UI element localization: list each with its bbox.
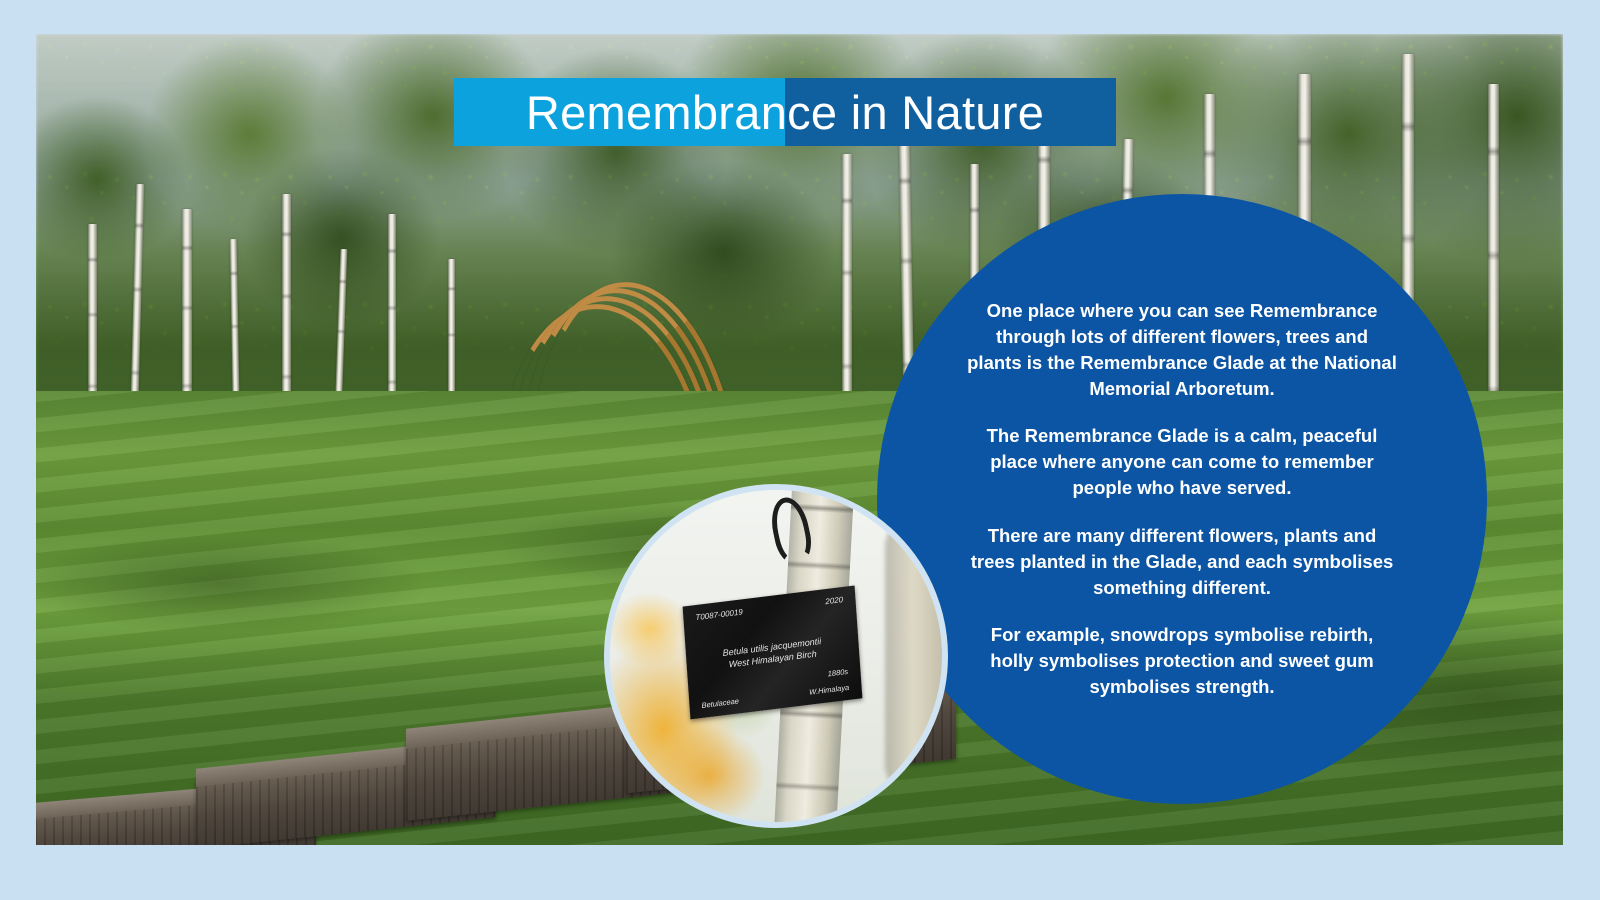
slide-title-banner: Remembrance in Nature [454,78,1116,146]
label-origin: W.Himalaya [809,683,850,697]
plant-label-tag: T0087-00019 2020 Betula utilis jacquemon… [683,586,862,720]
page-title: Remembrance in Nature [454,78,1116,146]
info-paragraph-4: For example, snowdrops symbolise rebirth… [967,622,1397,700]
label-introduction-date: 1880s [828,667,849,678]
slide-canvas: Remembrance in Nature One place where yo… [0,0,1600,900]
label-accession-code: T0087-00019 [696,607,744,622]
information-text-block: One place where you can see Remembrance … [967,298,1397,700]
background-branch [885,517,948,796]
info-paragraph-1: One place where you can see Remembrance … [967,298,1397,402]
label-year: 2020 [825,595,843,606]
label-family: Betulaceae [702,697,740,711]
inset-circular-photo: T0087-00019 2020 Betula utilis jacquemon… [604,484,948,828]
info-paragraph-3: There are many different flowers, plants… [967,523,1397,601]
info-paragraph-2: The Remembrance Glade is a calm, peacefu… [967,423,1397,501]
information-circle: One place where you can see Remembrance … [877,194,1487,804]
